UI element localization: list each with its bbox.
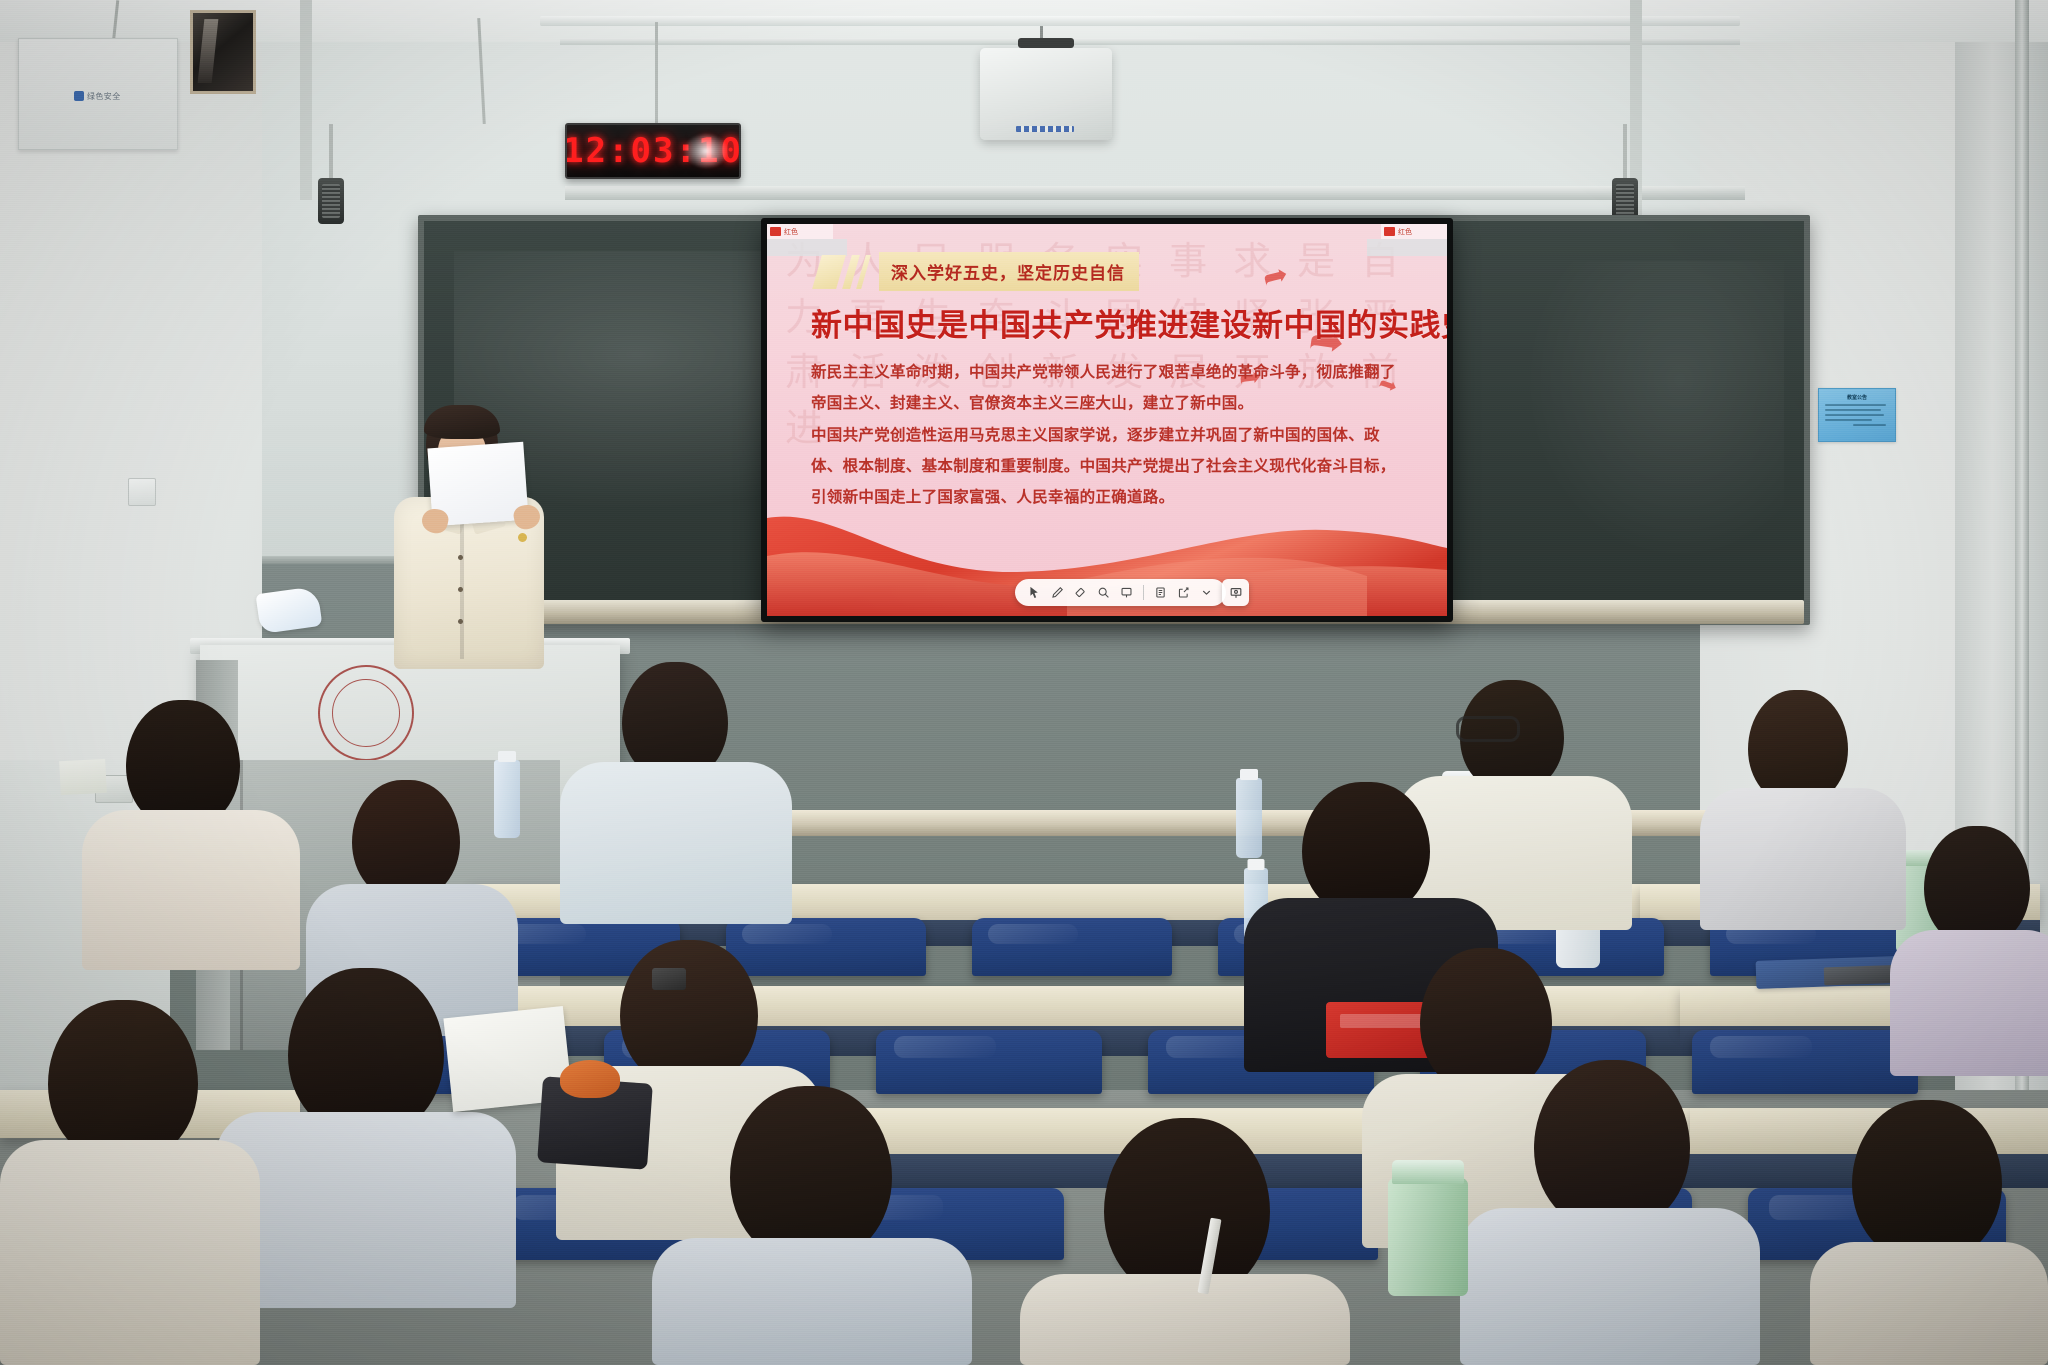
- magnifier-icon[interactable]: [1093, 582, 1114, 603]
- student-hair: [352, 780, 460, 900]
- ceiling-pipe-left: [300, 0, 312, 200]
- dove-icon-1: ➦: [1260, 259, 1292, 294]
- student-torso: [1810, 1242, 2048, 1365]
- university-seal-icon: [318, 665, 414, 761]
- student-hair: [288, 968, 444, 1136]
- student-front-2: [652, 1086, 972, 1365]
- present-icon[interactable]: [1222, 579, 1249, 606]
- hair-clip-icon: [652, 968, 686, 990]
- slide-kicker-banner: 深入学好五史，坚定历史自信: [817, 252, 1139, 291]
- share-icon[interactable]: [1173, 582, 1194, 603]
- presenter-badge: [518, 533, 527, 542]
- speaker-arm-right: [1623, 124, 1627, 178]
- wall-speaker-left: [318, 178, 344, 224]
- student-torso: [0, 1140, 260, 1365]
- projection-screen-bezel: 为人民服务实事求是自力更生奋斗团结紧张严肃活泼创新发展开放前进 红色 红色 ➦ …: [761, 218, 1453, 622]
- student-back-4: [1890, 826, 2048, 1076]
- student-torso: [1460, 1208, 1760, 1365]
- presenter-shirt-placket: [460, 509, 464, 659]
- pen-icon[interactable]: [1047, 582, 1068, 603]
- tissue-packet: [256, 586, 323, 634]
- student-hair: [1302, 782, 1430, 916]
- cable-access-opening: [190, 10, 256, 94]
- speaker-grill-right: [1616, 184, 1634, 218]
- student-torso: [1890, 930, 2048, 1076]
- led-wall-clock: 12:03:10: [565, 123, 741, 179]
- classroom-photo: 绿色安全 12:03:10 为人民服务实事求是自力更生奋斗团结紧张严肃活泼创新发…: [0, 0, 2048, 1365]
- presenter-fringe: [424, 405, 500, 439]
- student-front-right-edge: [1810, 1100, 2048, 1365]
- student-torso: [216, 1112, 516, 1308]
- badge-square-icon-right: [1384, 227, 1395, 236]
- ceiling-rail-lower: [560, 38, 1740, 45]
- shirt-button-3: [458, 619, 463, 624]
- spotlight-icon[interactable]: [1116, 582, 1137, 603]
- student-back-1: [560, 662, 792, 924]
- watermark-char: 求: [1233, 238, 1271, 286]
- student-front-left-edge: [0, 1000, 260, 1365]
- thermos-flask-front: [1388, 1178, 1468, 1296]
- bottle-cap-2: [498, 751, 516, 762]
- ceiling-beam: [565, 186, 1745, 200]
- speaker-arm-left: [329, 124, 333, 178]
- wall-equipment-box: 绿色安全: [18, 38, 178, 150]
- watermark-char: 是: [1297, 238, 1335, 286]
- student-hair: [48, 1000, 198, 1162]
- student-hair: [730, 1086, 892, 1262]
- clock-glare: [683, 133, 729, 169]
- student-torso: [560, 762, 792, 924]
- student-hair: [1534, 1060, 1690, 1230]
- classroom-notice-placard: 教室公告: [1818, 388, 1896, 442]
- student-hair: [1924, 826, 2030, 946]
- orange-pouch: [560, 1060, 620, 1098]
- watermark-char: 事: [1169, 238, 1207, 286]
- student-hair: [1852, 1100, 2002, 1262]
- student-hair: [126, 700, 240, 828]
- student-back-3: [1700, 690, 1906, 930]
- bottle-cap-3: [1240, 769, 1258, 780]
- projector-status-leds: [1016, 126, 1074, 132]
- speaker-at-podium: [372, 405, 572, 665]
- presentation-toolbar[interactable]: [1015, 579, 1226, 606]
- toolbar-separator: [1143, 585, 1144, 600]
- slide-kicker-text: 深入学好五史，坚定历史自信: [879, 252, 1139, 291]
- student-hair: [1748, 690, 1848, 804]
- slide-paragraph-1: 新民主主义革命时期，中国共产党带领人民进行了艰苦卓绝的革命斗争，彻底推翻了帝国主…: [811, 356, 1411, 419]
- eyeglasses-icon: [1456, 716, 1520, 742]
- student-front-4: [1460, 1060, 1760, 1365]
- student-hair: [620, 940, 758, 1086]
- student-torso: [82, 810, 300, 970]
- speaker-grill-left: [322, 184, 340, 218]
- chevron-down-icon[interactable]: [1196, 582, 1217, 603]
- thermos-lid-front: [1392, 1160, 1464, 1184]
- projected-slide[interactable]: 为人民服务实事求是自力更生奋斗团结紧张严肃活泼创新发展开放前进 红色 红色 ➦ …: [767, 224, 1447, 616]
- chair-r1-3: [972, 918, 1172, 976]
- slide-corner-badge-left: 红色: [767, 224, 833, 239]
- blackboard-sheen-right: [1524, 261, 1784, 561]
- light-switch[interactable]: [128, 478, 156, 506]
- slide-corner-badge-right: 红色: [1381, 224, 1447, 239]
- student-torso: [1700, 788, 1906, 930]
- equipment-brand-logo: 绿色安全: [74, 91, 121, 102]
- student-front-3: [1020, 1118, 1350, 1365]
- chair-r2-3: [876, 1030, 1102, 1094]
- student-hair: [1104, 1118, 1270, 1298]
- student-torso: [1020, 1274, 1350, 1365]
- brand-mark-icon: [74, 91, 84, 101]
- shirt-button-1: [458, 555, 463, 560]
- badge-square-icon-left: [770, 227, 781, 236]
- ceiling-rail-upper: [540, 16, 1740, 26]
- ceiling-projector: [980, 48, 1112, 140]
- slide-corner-subpanel-right: [1367, 239, 1447, 256]
- shirt-button-2: [458, 587, 463, 592]
- clock-cable: [655, 22, 658, 124]
- cursor-icon[interactable]: [1024, 582, 1045, 603]
- placard-heading: 教室公告: [1825, 394, 1889, 401]
- student-torso: [652, 1238, 972, 1365]
- ribbon-bars-icon: [817, 255, 875, 289]
- slide-title: 新中国史是中国共产党推进建设新中国的实践史: [811, 300, 1411, 345]
- student-back-5: [82, 700, 300, 970]
- projector-mount: [1018, 38, 1074, 48]
- notes-icon[interactable]: [1150, 582, 1171, 603]
- eraser-icon[interactable]: [1070, 582, 1091, 603]
